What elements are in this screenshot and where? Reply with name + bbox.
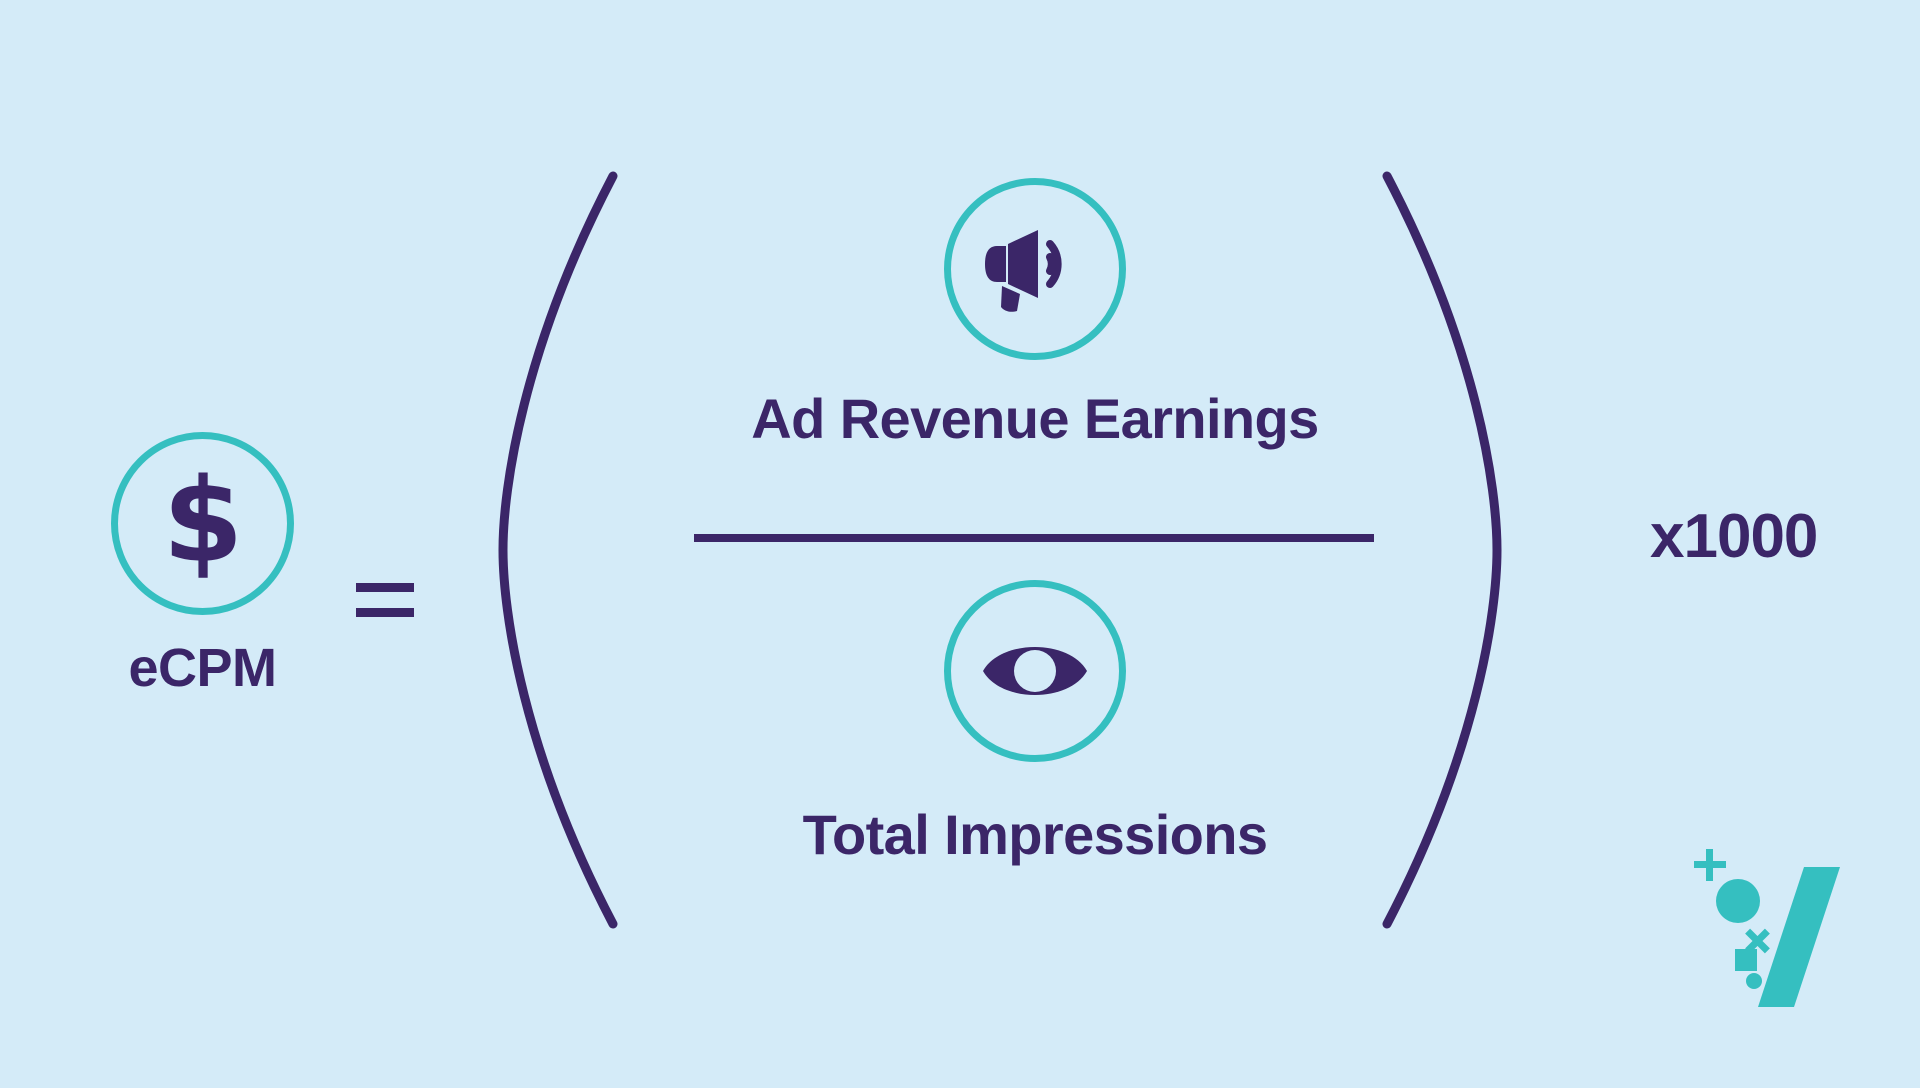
logo-circle — [1716, 879, 1760, 923]
dollar-sign-icon: $ — [111, 432, 294, 615]
multiplier-label: x1000 — [1650, 506, 1817, 568]
dollar-symbol: $ — [118, 463, 287, 579]
equals-sign — [356, 583, 414, 619]
denominator-label: Total Impressions — [640, 806, 1430, 865]
fraction-numerator: Ad Revenue Earnings — [640, 178, 1430, 449]
logo-dot — [1746, 973, 1762, 989]
megaphone-icon — [944, 178, 1126, 360]
fraction-denominator: Total Impressions — [640, 580, 1430, 865]
fraction-group: Ad Revenue Earnings Total Impressions — [640, 170, 1430, 930]
logo-square — [1735, 949, 1757, 971]
ecpm-label: eCPM — [75, 641, 330, 695]
numerator-label: Ad Revenue Earnings — [640, 390, 1430, 449]
logo-plus-horizontal — [1694, 861, 1726, 868]
equals-bar-top — [356, 583, 414, 592]
eye-icon — [944, 580, 1126, 762]
infographic-canvas: $ eCPM — [0, 0, 1920, 1088]
fraction-bar — [694, 534, 1374, 542]
brand-logo — [1690, 845, 1870, 1025]
left-parenthesis — [495, 170, 625, 930]
ecpm-result-term: $ eCPM — [75, 432, 330, 695]
logo-slash — [1758, 867, 1840, 1007]
equals-bar-bottom — [356, 608, 414, 617]
